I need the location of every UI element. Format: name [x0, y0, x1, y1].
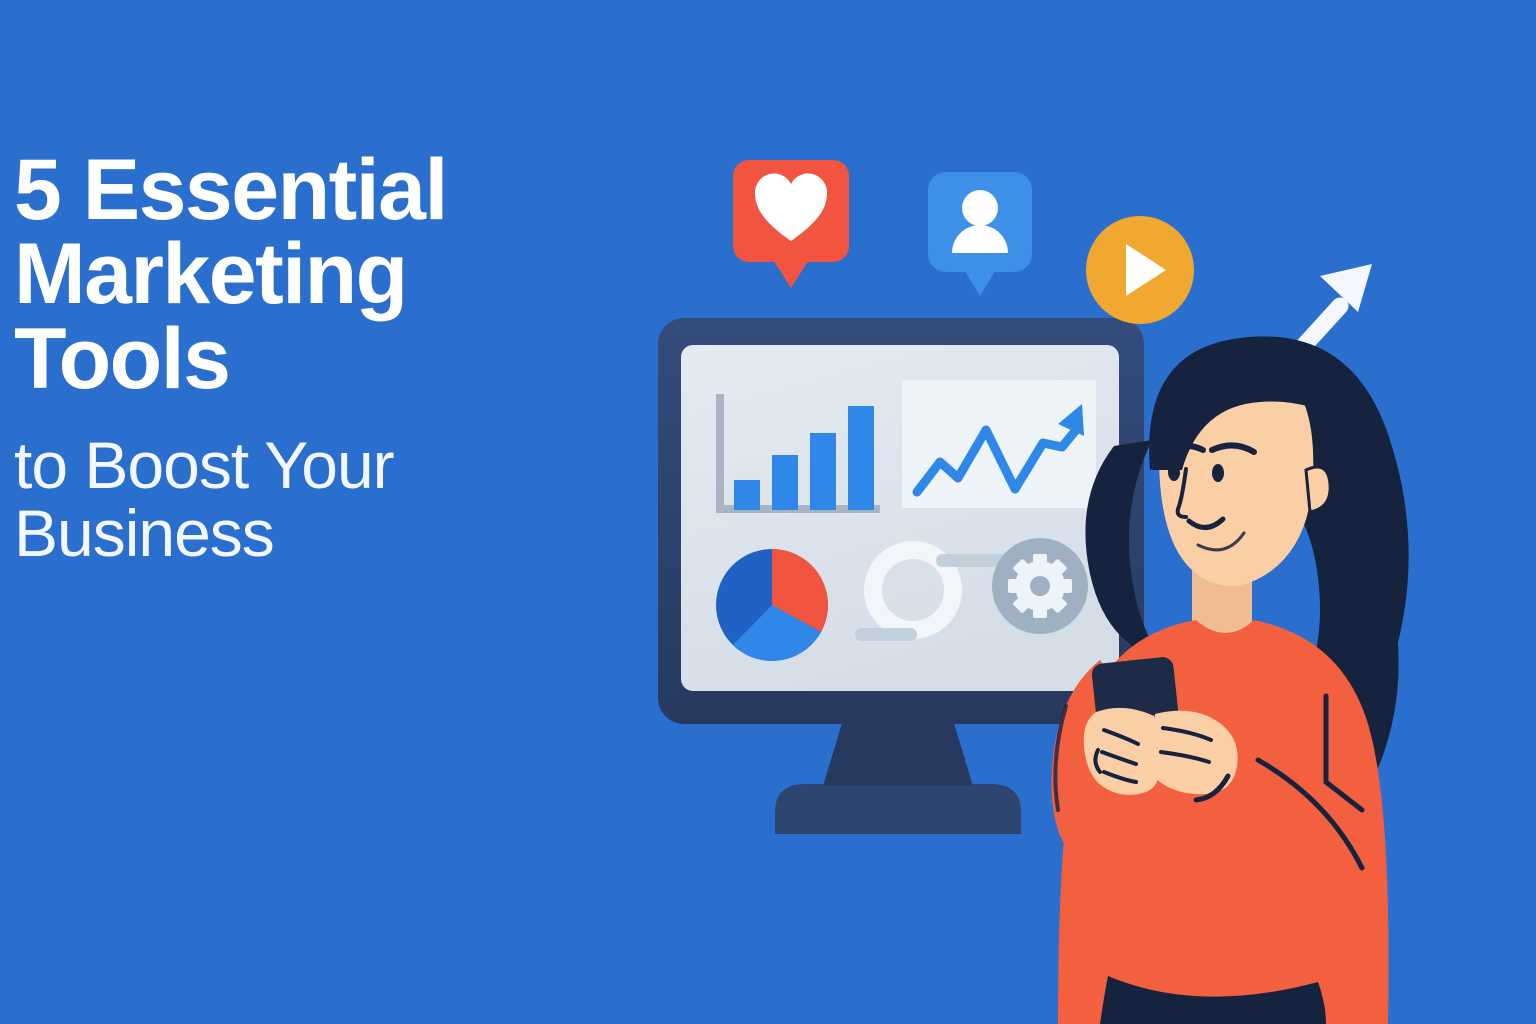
bar-chart-y-axis	[716, 394, 724, 512]
follower-bubble[interactable]	[928, 172, 1032, 296]
eye-left	[1168, 463, 1180, 481]
monitor-neck-foot	[817, 786, 979, 798]
like-bubble[interactable]	[733, 160, 849, 288]
bar-2	[772, 455, 798, 510]
bar-3	[810, 433, 836, 510]
bar-4	[848, 406, 874, 510]
eye-right	[1212, 464, 1224, 482]
follower-bubble-tail	[963, 268, 997, 296]
donut-bar-bottom	[855, 628, 917, 641]
like-bubble-tail	[772, 258, 810, 288]
gear-icon	[1008, 554, 1072, 618]
poster-canvas: 5 Essential Marketing Tools to Boost You…	[0, 0, 1536, 1024]
settings-gear-widget	[992, 538, 1088, 634]
illustration	[0, 0, 1536, 1024]
pie-chart-widget	[716, 549, 828, 661]
monitor-neck	[823, 720, 973, 786]
bar-1	[734, 480, 760, 510]
video-badge[interactable]	[1086, 216, 1194, 324]
trend-line-widget	[902, 380, 1096, 508]
